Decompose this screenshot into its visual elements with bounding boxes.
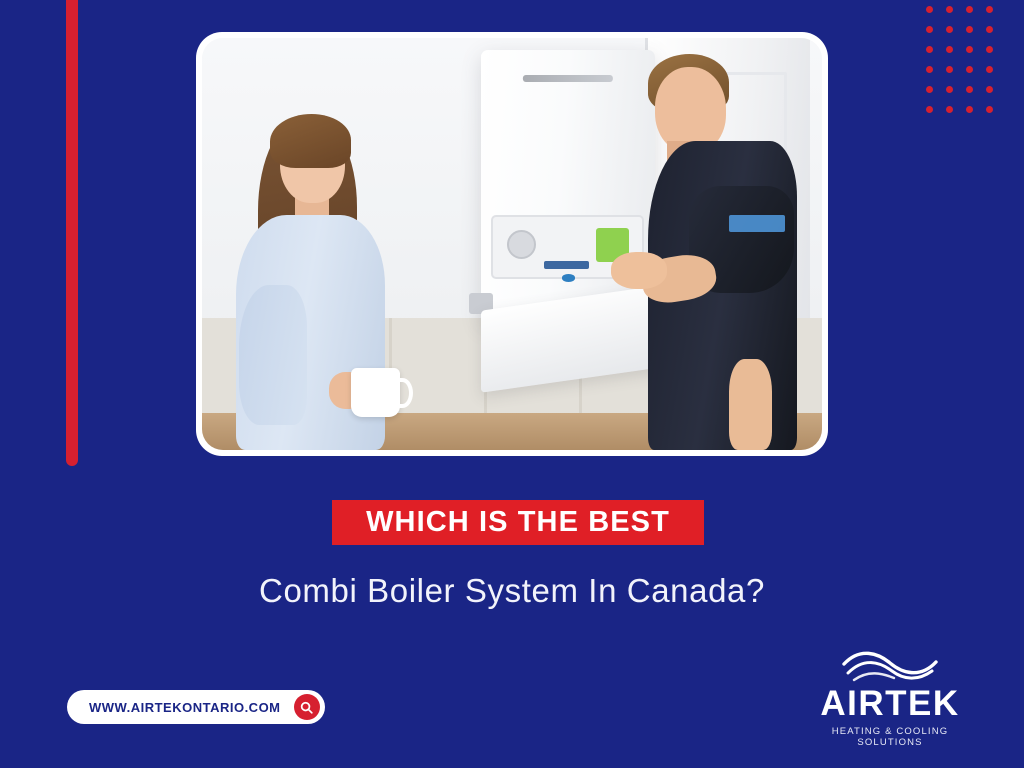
dot: [946, 106, 953, 113]
dot: [966, 6, 973, 13]
dot: [926, 6, 933, 13]
dot: [946, 66, 953, 73]
dot: [926, 106, 933, 113]
dot: [926, 86, 933, 93]
dot: [986, 26, 993, 33]
dot: [966, 26, 973, 33]
dot: [986, 66, 993, 73]
technician-shoulder-badge: [729, 215, 785, 231]
dot: [986, 46, 993, 53]
website-url-pill[interactable]: WWW.AIRTEKONTARIO.COM: [67, 690, 325, 724]
boiler-dial: [507, 230, 536, 259]
dot: [926, 46, 933, 53]
red-vertical-accent-bar: [66, 0, 78, 466]
woman-arm: [239, 285, 307, 425]
logo-tagline: HEATING & COOLING SOLUTIONS: [814, 726, 966, 748]
woman-hair-top: [270, 114, 351, 168]
dot: [946, 6, 953, 13]
hero-photo: [202, 38, 822, 450]
airflow-wave-mark: [838, 648, 942, 684]
dot: [986, 86, 993, 93]
company-logo: AIRTEK HEATING & COOLING SOLUTIONS: [814, 648, 966, 748]
website-url-text: WWW.AIRTEKONTARIO.COM: [89, 700, 281, 715]
white-mug: [351, 368, 401, 417]
hero-photo-frame: [196, 32, 828, 456]
dot: [926, 66, 933, 73]
dot: [986, 106, 993, 113]
dot: [986, 6, 993, 13]
technician-hand: [611, 252, 667, 289]
headline-band: WHICH IS THE BEST: [332, 500, 704, 545]
dot: [946, 46, 953, 53]
boiler-brand-logo: [523, 75, 613, 82]
headline-subtitle: Combi Boiler System In Canada?: [0, 572, 1024, 610]
dot: [966, 106, 973, 113]
dot-grid-decoration: [926, 6, 1006, 126]
promotional-poster: WHICH IS THE BEST Combi Boiler System In…: [0, 0, 1024, 768]
headline-band-text: WHICH IS THE BEST: [366, 506, 670, 539]
dot: [966, 46, 973, 53]
search-icon[interactable]: [294, 694, 320, 720]
boiler-badge: [544, 261, 589, 269]
dot: [966, 66, 973, 73]
dot: [946, 26, 953, 33]
boiler-indicator-dot: [562, 274, 575, 281]
technician-lower-arm: [729, 359, 772, 450]
dot: [966, 86, 973, 93]
logo-company-name: AIRTEK: [814, 686, 966, 721]
dot: [946, 86, 953, 93]
dot: [926, 26, 933, 33]
